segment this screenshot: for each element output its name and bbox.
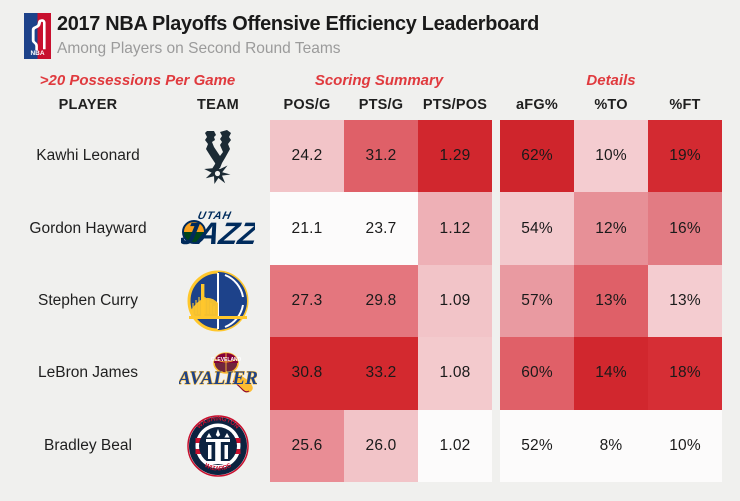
leaderboard-table: Kawhi Leonard 24.231.21.2962%10%19%Gordo… [0, 120, 740, 482]
player-name: Stephen Curry [8, 265, 168, 337]
cell-pos-g: 21.1 [270, 192, 344, 264]
cell--to: 14% [574, 337, 648, 409]
svg-text:JAZZ: JAZZ [181, 216, 255, 251]
player-name: Kawhi Leonard [8, 120, 168, 192]
group-header-details: Details [500, 72, 722, 89]
player-name: Bradley Beal [8, 410, 168, 482]
cell-pts-g: 33.2 [344, 337, 418, 409]
column-header-team: TEAM [168, 97, 268, 113]
table-row: Kawhi Leonard 24.231.21.2962%10%19% [0, 120, 740, 192]
page-subtitle: Among Players on Second Round Teams [57, 40, 341, 58]
cell-pos-g: 27.3 [270, 265, 344, 337]
group-header-scoring: Scoring Summary [268, 72, 490, 89]
wizards-logo: WASHINGTON WIZARDS [168, 410, 268, 482]
column-header-posg: POS/G [270, 97, 344, 113]
cell-pos-g: 25.6 [270, 410, 344, 482]
table-row: LeBron James CAVALIERS CLEVELAND 30.833.… [0, 337, 740, 409]
cell-pos-g: 30.8 [270, 337, 344, 409]
group-header-filter: >20 Possessions Per Game [0, 72, 275, 89]
column-header-ptsg: PTS/G [344, 97, 418, 113]
cell-pts-pos: 1.02 [418, 410, 492, 482]
cell-afg-: 60% [500, 337, 574, 409]
cell-pos-g: 24.2 [270, 120, 344, 192]
nba-logo: NBA [24, 13, 51, 59]
column-header-player: PLAYER [8, 97, 168, 113]
cell-pts-pos: 1.12 [418, 192, 492, 264]
player-name: Gordon Hayward [8, 192, 168, 264]
svg-text:NBA: NBA [30, 50, 44, 57]
cell-pts-pos: 1.08 [418, 337, 492, 409]
spurs-logo [168, 120, 268, 192]
cell-pts-g: 26.0 [344, 410, 418, 482]
cell-pts-pos: 1.09 [418, 265, 492, 337]
jazz-logo: UTAH JAZZ [168, 192, 268, 264]
column-header-afg: aFG% [500, 97, 574, 113]
cell-afg-: 52% [500, 410, 574, 482]
warriors-logo [168, 265, 268, 337]
table-row: Gordon Hayward UTAH JAZZ 21.123.71.1254%… [0, 192, 740, 264]
cell--to: 10% [574, 120, 648, 192]
page-header: NBA 2017 NBA Playoffs Offensive Efficien… [0, 0, 740, 68]
column-header-to: %TO [574, 97, 648, 113]
cell-pts-g: 31.2 [344, 120, 418, 192]
cell--to: 13% [574, 265, 648, 337]
cell-afg-: 57% [500, 265, 574, 337]
player-name: LeBron James [8, 337, 168, 409]
column-header-ptspos: PTS/POS [418, 97, 492, 113]
cell-afg-: 62% [500, 120, 574, 192]
cell-pts-pos: 1.29 [418, 120, 492, 192]
cell-pts-g: 29.8 [344, 265, 418, 337]
svg-text:CAVALIERS: CAVALIERS [179, 368, 257, 389]
table-row: Stephen Curry 27.329.81.0957%13%13% [0, 265, 740, 337]
svg-text:CLEVELAND: CLEVELAND [211, 357, 242, 363]
cell--to: 8% [574, 410, 648, 482]
page-title: 2017 NBA Playoffs Offensive Efficiency L… [57, 12, 539, 36]
cell--ft: 18% [648, 337, 722, 409]
cavaliers-logo: CAVALIERS CLEVELAND [168, 337, 268, 409]
cell--ft: 13% [648, 265, 722, 337]
cell--ft: 16% [648, 192, 722, 264]
column-header-ft: %FT [648, 97, 722, 113]
cell--ft: 10% [648, 410, 722, 482]
cell-pts-g: 23.7 [344, 192, 418, 264]
table-row: Bradley Beal WASHINGTON WIZARDS 25.626.0… [0, 410, 740, 482]
cell-afg-: 54% [500, 192, 574, 264]
cell--ft: 19% [648, 120, 722, 192]
cell--to: 12% [574, 192, 648, 264]
